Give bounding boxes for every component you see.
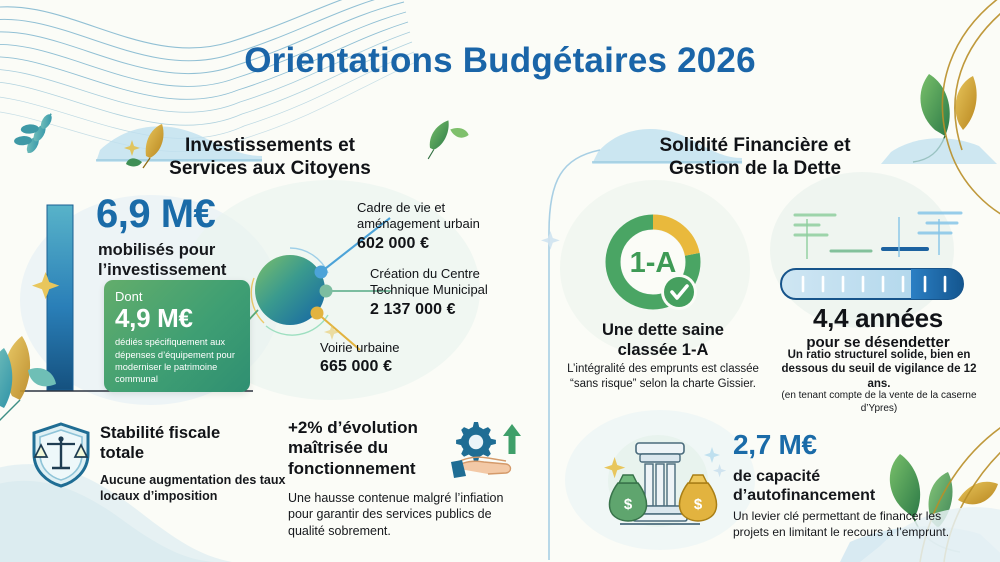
column-header-investments-line1: Investissements et (185, 135, 355, 156)
budget-item-centre-technique: Création du Centre Technique Municipal 2… (370, 266, 530, 319)
budget-item-value: 602 000 € (357, 235, 522, 253)
operating-title-line1: +2% d’évolution (288, 418, 418, 437)
debt-rating-title-line1: Une dette saine (602, 321, 724, 339)
debt-rating-subtitle: L’intégralité des emprunts est classée “… (565, 362, 761, 392)
shield-scales-icon (30, 422, 92, 488)
hand-gear-arrow-icon (448, 418, 530, 484)
bank-money-bags-icon: $ $ (600, 425, 728, 537)
budget-item-label: Cadre de vie et aménagement urbain (357, 200, 522, 233)
investment-caption-line2: l’investissement (98, 261, 226, 279)
fiscal-title-line2: totale (100, 444, 144, 462)
column-header-investments: Investissements et Services aux Citoyens (120, 134, 420, 180)
infographic-canvas: 1-A (0, 0, 1000, 562)
fiscal-stability-title: Stabilité fiscale totale (100, 424, 285, 464)
investment-caption-line1: mobilisés pour (98, 241, 215, 259)
operating-growth-title: +2% d’évolution maîtrisée du fonctionnem… (288, 418, 448, 479)
debt-payoff-detail: Un ratio structurel solide, bien en dess… (772, 348, 986, 391)
equipment-card-label: Dont (115, 289, 239, 304)
self-financing-caption: de capacité d’autofinancement (733, 467, 963, 505)
svg-text:$: $ (694, 496, 703, 513)
debt-rating-title-line2: classée 1-A (618, 341, 709, 359)
investment-headline-value: 6,9 M€ (96, 192, 215, 237)
debt-payoff-note: (en tenant compte de la vente de la case… (776, 390, 982, 415)
fiscal-stability-subtitle: Aucune augmentation des taux locaux d’im… (100, 472, 290, 505)
budget-item-value: 2 137 000 € (370, 301, 530, 319)
debt-payoff-title: 4,4 années pour se désendetter (768, 303, 988, 351)
budget-item-value: 665 000 € (320, 358, 480, 376)
column-header-debt: Solidité Financière et Gestion de la Det… (600, 134, 910, 180)
self-financing-note: Un levier clé permettant de financer les… (733, 509, 961, 540)
operating-title-line2: maîtrisée du (288, 438, 388, 457)
operating-title-line3: fonctionnement (288, 459, 416, 478)
svg-text:$: $ (624, 496, 633, 513)
svg-text:1-A: 1-A (630, 247, 677, 279)
self-financing-caption-line1: de capacité (733, 468, 820, 485)
column-header-investments-line2: Services aux Citoyens (169, 158, 371, 179)
self-financing-caption-line2: d’autofinancement (733, 487, 875, 504)
budget-item-label: Création du Centre Technique Municipal (370, 266, 530, 299)
self-financing-value: 2,7 M€ (733, 429, 817, 461)
equipment-spending-card: Dont 4,9 M€ dédiés spécifiquement aux dé… (104, 280, 250, 392)
fiscal-title-line1: Stabilité fiscale (100, 424, 220, 442)
investment-headline-caption: mobilisés pour l’investissement (98, 240, 278, 280)
operating-growth-subtitle: Une hausse contenue malgré l’infiation p… (288, 490, 520, 539)
page-title: Orientations Budgétaires 2026 (0, 41, 1000, 81)
debt-rating-title: Une dette saine classée 1-A (572, 320, 754, 360)
budget-item-label: Voirie urbaine (320, 340, 480, 356)
budget-item-voirie-urbaine: Voirie urbaine 665 000 € (320, 340, 480, 376)
budget-item-cadre-de-vie: Cadre de vie et aménagement urbain 602 0… (357, 200, 522, 253)
equipment-card-value: 4,9 M€ (115, 305, 239, 332)
column-header-debt-line1: Solidité Financière et (659, 135, 850, 156)
column-header-debt-line2: Gestion de la Dette (669, 158, 841, 179)
debt-payoff-value: 4,4 années (768, 303, 988, 334)
equipment-card-description: dédiés spécifiquement aux dépenses d’équ… (115, 336, 239, 385)
